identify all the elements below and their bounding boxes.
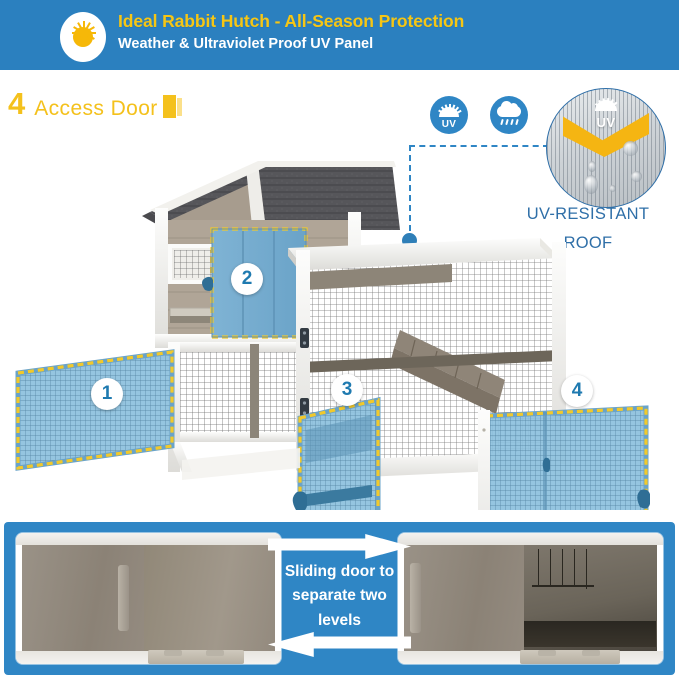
uv-sun-icon: UV <box>430 96 468 134</box>
caption-line-2: separate two <box>268 584 411 608</box>
sliding-door-closed-photo <box>16 533 281 664</box>
sliding-door-caption: Sliding door to separate two levels <box>268 560 411 633</box>
header-subtitle: Weather & Ultraviolet Proof UV Panel <box>118 34 464 56</box>
callout-uv-label: UV <box>547 115 665 130</box>
access-door-label: Access Door <box>34 98 157 119</box>
sliding-door-open-photo <box>398 533 663 664</box>
door-badge-1[interactable]: 1 <box>91 378 123 410</box>
caption-line-1: Sliding door to <box>268 560 411 584</box>
sun-icon <box>60 12 106 62</box>
door-badge-2[interactable]: 2 <box>231 263 263 295</box>
rain-cloud-icon <box>490 96 528 134</box>
door-badge-3[interactable]: 3 <box>331 374 363 406</box>
access-door-callout: 4 Access Door <box>8 88 182 119</box>
uv-icon-label: UV <box>430 119 468 130</box>
header-title: Ideal Rabbit Hutch - All-Season Protecti… <box>118 9 464 34</box>
access-door-count: 4 <box>8 88 25 119</box>
door-badge-4[interactable]: 4 <box>561 375 593 407</box>
open-door-icon <box>163 94 182 119</box>
caption-line-3: levels <box>268 609 411 633</box>
rabbit-hutch-illustration <box>0 130 679 510</box>
header-banner: Ideal Rabbit Hutch - All-Season Protecti… <box>0 0 679 70</box>
